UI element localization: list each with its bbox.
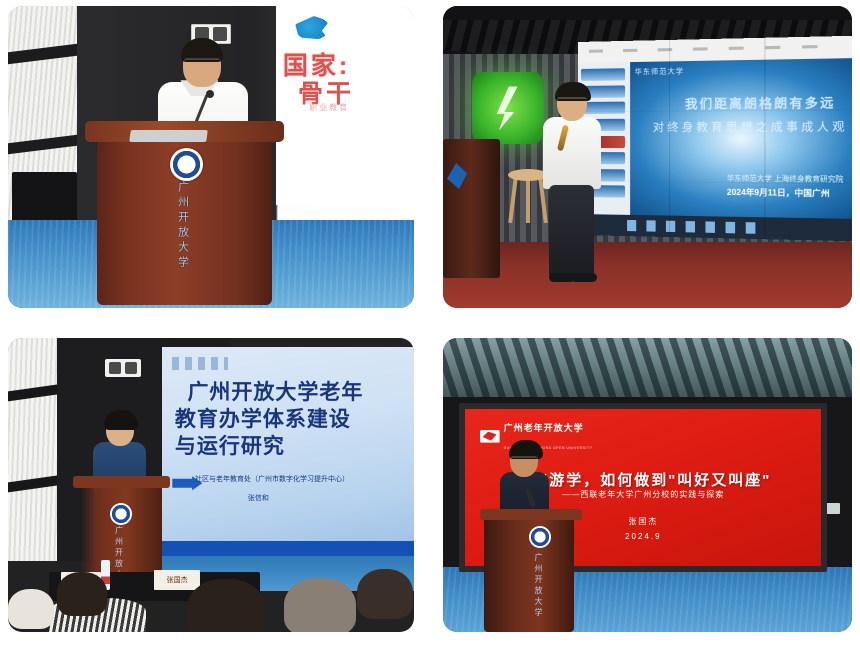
podium-label: 广州开放大学: [533, 553, 544, 619]
slide-header-mark: [172, 357, 227, 370]
photo-collage: 国家: 骨干 职业教育 广州开放大学: [0, 0, 860, 645]
speaker-shoe: [571, 273, 597, 282]
slide-title-line-3: 与运行研究: [175, 430, 285, 460]
photo-2-scene: 华东师范大学 我们距离朗格朗有多远 对终身教育思想之成事成人观 华东师范大学 上…: [443, 6, 852, 308]
slide-bottom-bar: [162, 541, 414, 556]
podium-top-surface: [73, 476, 170, 488]
attendee-head: [8, 589, 54, 629]
green-app-logo-icon: [472, 72, 544, 144]
podium-label: 广州开放大学: [174, 181, 190, 271]
attendee-head: [187, 579, 265, 632]
eyeglasses-icon: [557, 97, 587, 107]
stool-leg: [509, 177, 519, 223]
speaker-trousers: [549, 185, 594, 277]
photo-top-left[interactable]: 国家: 骨干 职业教育 广州开放大学: [8, 6, 414, 308]
led-video-wall: 华东师范大学 我们距离朗格朗有多远 对终身教育思想之成事成人观 华东师范大学 上…: [578, 36, 852, 242]
slide-title-line-2: 教育办学体系建设: [175, 403, 351, 433]
university-crest-icon: [480, 430, 500, 443]
photo-bottom-right[interactable]: 广州老年开放大学 GUANGZHOU SENIORS OPEN UNIVERSI…: [443, 338, 852, 632]
speaker-hair: [104, 410, 138, 430]
slide-title-line-1: 广州开放大学老年: [187, 376, 363, 406]
screen-org-name: 广州老年开放大学: [504, 423, 584, 433]
university-crest-icon: [110, 503, 132, 525]
speaker-shirt: [543, 117, 601, 189]
led-panel-seams: [578, 36, 852, 242]
photo-3-scene: 广州开放大学老年 教育办学体系建设 与运行研究 社区与老年教育处（广州市数字化学…: [8, 338, 414, 632]
eyeglasses-icon: [184, 58, 220, 69]
wall-socket-icon: [105, 359, 141, 377]
university-crest-icon: [529, 526, 551, 548]
banner-line-3: 职业教育: [309, 102, 349, 113]
laptop-on-podium: [129, 130, 208, 142]
side-podium: [443, 139, 500, 278]
eyeglasses-icon: [510, 456, 538, 466]
acoustic-panel: [8, 338, 57, 561]
speaker-figure: [541, 85, 602, 284]
slide-subtitle: 社区与老年教育处（广州市数字化学习提升中心）: [195, 474, 349, 484]
microphone-head: [206, 90, 214, 98]
podium-top-surface: [480, 509, 582, 521]
attendee-head: [57, 572, 107, 616]
photo-bottom-left[interactable]: 广州开放大学老年 教育办学体系建设 与运行研究 社区与老年教育处（广州市数字化学…: [8, 338, 414, 632]
audience-foreground: 张国杰: [8, 559, 414, 633]
stool-leg: [526, 177, 530, 223]
name-card: 张国杰: [154, 570, 200, 590]
photo-1-scene: 国家: 骨干 职业教育 广州开放大学: [8, 6, 414, 308]
wave-bird-logo-icon: [295, 16, 329, 40]
attendee-head: [284, 578, 356, 632]
slide-presenter: 张信和: [248, 493, 269, 503]
room-floor: [443, 242, 852, 308]
photo-4-scene: 广州老年开放大学 GUANGZHOU SENIORS OPEN UNIVERSI…: [443, 338, 852, 632]
projected-slide: 广州开放大学老年 教育办学体系建设 与运行研究 社区与老年教育处（广州市数字化学…: [162, 347, 414, 556]
photo-top-right[interactable]: 华东师范大学 我们距离朗格朗有多远 对终身教育思想之成事成人观 华东师范大学 上…: [443, 6, 852, 308]
wall-banner: 国家: 骨干 职业教育: [276, 6, 414, 205]
attendee-head: [357, 569, 413, 619]
room-ceiling: [443, 338, 852, 397]
